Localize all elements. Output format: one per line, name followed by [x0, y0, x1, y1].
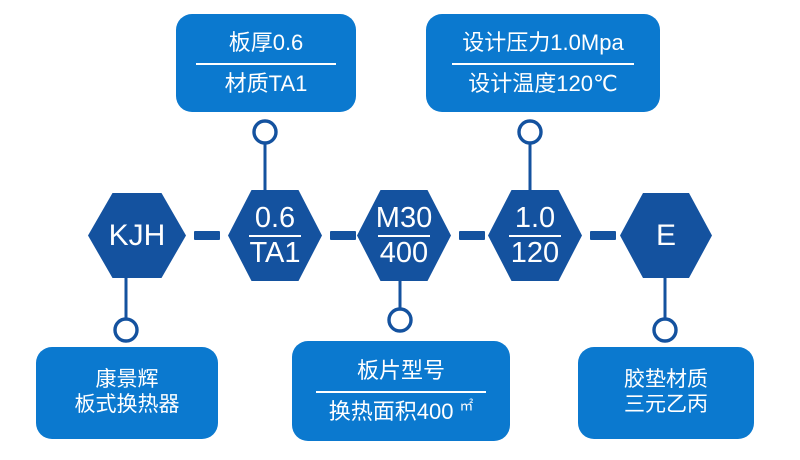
gasket-callout-line-top: 胶垫材质: [610, 368, 722, 393]
hexagon-brand-code: KJH: [109, 220, 166, 252]
brand-callout-line-bottom: 板式换热器: [61, 393, 194, 418]
divider-rule: [196, 63, 336, 65]
connector-gasket: [654, 278, 676, 341]
hexagon-plate-model-area[interactable]: M30 400: [357, 190, 451, 281]
design-condition-callout[interactable]: 设计压力1.0Mpa 设计温度120℃: [426, 14, 660, 112]
hexagon-plate-thickness-value: 0.6: [255, 203, 295, 233]
plate-model-callout[interactable]: 板片型号 换热面积400 ㎡: [292, 341, 510, 441]
dash-separator-2: [330, 231, 356, 240]
hexagon-brand[interactable]: KJH: [88, 193, 186, 278]
heat-area-unit: ㎡: [460, 398, 474, 413]
heat-area-value: 换热面积400: [329, 399, 460, 424]
plate-model-callout-line-top: 板片型号: [343, 358, 459, 389]
gasket-callout[interactable]: 胶垫材质 三元乙丙: [578, 347, 754, 439]
plate-thickness-callout-line-bottom: 材质TA1: [211, 69, 322, 97]
plate-thickness-callout-line-top: 板厚0.6: [215, 30, 318, 61]
dash-separator-3: [459, 231, 485, 240]
brand-callout[interactable]: 康景辉 板式换热器: [36, 347, 218, 439]
dash-separator-4: [590, 231, 616, 240]
hexagon-plate-material-value: TA1: [249, 238, 300, 268]
divider-rule: [316, 391, 486, 393]
connector-design-condition: [519, 121, 541, 193]
heat-area-callout-line: 换热面积400 ㎡: [315, 397, 487, 425]
diagram-canvas: 板厚0.6 材质TA1 设计压力1.0Mpa 设计温度120℃ KJH 0.6 …: [0, 0, 800, 460]
plate-thickness-callout[interactable]: 板厚0.6 材质TA1: [176, 14, 356, 112]
divider-rule: [452, 63, 635, 65]
connector-brand: [115, 278, 137, 341]
hexagon-gasket-code: E: [656, 220, 676, 252]
design-temperature-line: 设计温度120℃: [454, 69, 631, 97]
brand-callout-line-top: 康景辉: [82, 368, 173, 393]
hexagon-plate-thickness-material[interactable]: 0.6 TA1: [228, 190, 322, 281]
connector-plate-model: [389, 278, 411, 331]
gasket-callout-line-bottom: 三元乙丙: [610, 393, 722, 418]
hexagon-pressure-temperature[interactable]: 1.0 120: [488, 190, 582, 281]
hexagon-gasket-material[interactable]: E: [620, 193, 712, 278]
design-pressure-line: 设计压力1.0Mpa: [448, 30, 637, 61]
hexagon-temperature-value: 120: [511, 238, 559, 268]
hexagon-plate-model-value: M30: [376, 203, 432, 233]
hexagon-heat-area-value: 400: [380, 238, 428, 268]
dash-separator-1: [194, 231, 220, 240]
hexagon-pressure-value: 1.0: [515, 203, 555, 233]
connector-plate-thickness: [254, 121, 276, 193]
